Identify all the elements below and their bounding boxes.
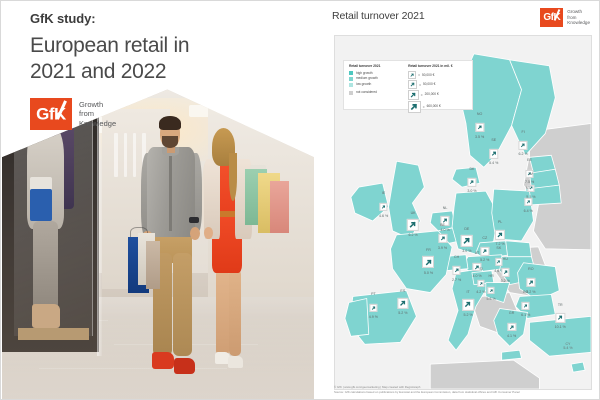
map-marker-pl[interactable]: PL7.2 %	[495, 221, 505, 247]
growth-percent-label: 3.9 %	[438, 247, 447, 251]
legend-size-value: 50,000 €	[422, 74, 434, 77]
legend-swatch-low-growth	[349, 83, 353, 87]
arrow-up-right-icon	[482, 249, 487, 254]
country-code-label: SE	[489, 139, 498, 143]
arrow-up-right-icon	[509, 325, 514, 330]
growth-arrow-icon	[475, 123, 484, 132]
country-code-label: TR	[555, 304, 566, 308]
country-code-label: DK	[467, 168, 476, 172]
growth-arrow-icon	[422, 256, 434, 268]
growth-percent-label: 6.1 %	[521, 314, 530, 318]
growth-arrow-icon	[380, 203, 388, 211]
country-code-label: EE	[525, 159, 534, 163]
legend-size-item: = 50,000 €	[408, 71, 467, 79]
country-code-label: HR	[487, 275, 496, 279]
country-code-label: SK	[494, 247, 503, 251]
country-code-label: BE	[438, 224, 447, 228]
legend-size-value: 50,000 €	[423, 83, 435, 86]
legend-equals: =	[419, 83, 421, 87]
photo-man-watch	[189, 217, 199, 223]
growth-percent-label: 4.9 %	[369, 316, 378, 320]
country-code-label: DE	[461, 228, 474, 232]
country-code-label: ES	[397, 289, 408, 293]
growth-arrow-icon	[481, 247, 489, 255]
map-marker-fr[interactable]: FR5.0 %	[422, 249, 434, 275]
map-marker-pt[interactable]: PT4.9 %	[369, 293, 378, 319]
country-code-label: NL	[440, 206, 449, 210]
arrow-up-right-icon	[521, 143, 526, 148]
country-code-label: RO	[526, 268, 535, 272]
photo-woman-leg-left	[216, 269, 229, 357]
europe-map[interactable]: Retail turnover 2021 high growth medium …	[334, 35, 592, 390]
map-marker-si[interactable]: SI4.2 %	[476, 268, 485, 294]
map-marker-dk[interactable]: DK3.0 %	[467, 168, 476, 194]
gfk-logo-mark: GfK	[540, 8, 563, 27]
arrow-up-right-icon	[479, 282, 483, 286]
country-code-label: FI	[519, 131, 528, 135]
photo-alt-text: Couple walking with shopping bags in a s…	[2, 2, 3, 3]
legend-size-value: 200,000 €	[425, 93, 439, 96]
headline-line-2: 2021 and 2022	[30, 59, 260, 85]
growth-arrow-icon	[524, 198, 532, 206]
photo-man-shirt-placket	[169, 151, 172, 231]
legend-right-heading: Retail turnover 2021 in mil. €	[408, 65, 467, 68]
photo-woman-hand-left	[204, 227, 213, 239]
legend-swatch-medium-growth	[349, 77, 353, 81]
map-marker-tr[interactable]: TR10.1 %	[555, 304, 566, 330]
legend-equals: =	[421, 93, 423, 97]
growth-arrow-icon	[462, 299, 474, 311]
growth-percent-label: 5.2 %	[462, 314, 474, 318]
legend-equals: =	[423, 105, 425, 109]
growth-arrow-icon	[556, 313, 565, 322]
growth-arrow-icon	[407, 219, 419, 231]
map-marker-it[interactable]: IT5.2 %	[462, 291, 474, 317]
map-marker-hr[interactable]: HR5.5 %	[487, 275, 496, 301]
country-code-label: PL	[495, 221, 505, 225]
map-slide: Retail turnover 2021 GfK Growth from Kno…	[326, 2, 600, 400]
country-code-label: LT	[524, 187, 533, 191]
growth-percent-label: 5.2 %	[501, 280, 510, 284]
country-code-label: SI	[476, 268, 485, 272]
map-marker-fi[interactable]: FI6.2 %	[519, 131, 528, 157]
photo-mannequin-legs	[33, 221, 58, 317]
map-marker-uk[interactable]: UK6.2 %	[407, 212, 419, 238]
country-code-label: CZ	[480, 236, 489, 240]
arrow-up-right-icon	[410, 92, 416, 98]
country-code-label: GR	[507, 312, 516, 316]
photo-man-hair	[159, 116, 181, 130]
arrow-up-right-icon	[400, 300, 407, 307]
growth-arrow-icon	[495, 230, 505, 240]
photo-man-shoe-left	[152, 352, 174, 369]
arrow-up-right-icon	[477, 125, 482, 130]
growth-arrow-icon	[438, 234, 447, 243]
country-code-label: IT	[462, 291, 474, 295]
growth-percent-label: 5.4 %	[563, 347, 572, 351]
photo-woman-leg-right	[229, 269, 241, 357]
legend-size-item: = 600,000 €	[408, 101, 467, 114]
country-code-label: IE	[379, 192, 388, 196]
map-marker-de[interactable]: DE3.0 %	[461, 228, 474, 254]
growth-arrow-icon	[522, 302, 530, 310]
legend-label: low growth	[356, 83, 371, 86]
growth-arrow-icon	[489, 149, 498, 158]
arrow-up-right-icon	[425, 259, 432, 266]
growth-arrow-icon	[408, 90, 419, 101]
legend-item: high growth	[349, 71, 405, 75]
growth-arrow-icon	[519, 141, 528, 150]
country-code-label: BG	[521, 291, 530, 295]
map-marker-bg[interactable]: BG6.1 %	[521, 291, 530, 317]
growth-percent-label: 5.5 %	[487, 298, 496, 302]
photo-shopping-bag	[146, 241, 160, 289]
photo-store-slat	[114, 133, 117, 177]
growth-percent-label: 5.2 %	[397, 312, 408, 316]
growth-percent-label: 10.1 %	[555, 326, 566, 330]
legend-swatch-high-growth	[349, 71, 353, 75]
photo-man-leg-right	[173, 253, 192, 356]
country-code-label: CH	[452, 256, 461, 260]
arrow-up-right-icon	[410, 103, 418, 111]
photo-floor-line	[39, 368, 226, 369]
growth-percent-label: 3.5 %	[475, 136, 484, 140]
map-marker-ie[interactable]: IE4.6 %	[379, 192, 388, 218]
growth-percent-label: 3.0 %	[467, 190, 476, 194]
gfk-logo-wordmark: GfK	[30, 106, 72, 123]
legend-item: low growth	[349, 83, 405, 87]
map-source-note: © GfK | www.gfk.com/geomarketing | Map c…	[334, 385, 592, 394]
legend-label: not considered	[356, 91, 377, 94]
photo-man-hand-right	[190, 227, 200, 240]
legend-equals: =	[418, 73, 420, 77]
legend-swatch-not-considered	[349, 91, 353, 95]
growth-arrow-icon	[408, 101, 421, 114]
arrow-up-right-icon	[470, 180, 475, 185]
legend-class-column: Retail turnover 2021 high growth medium …	[349, 65, 405, 105]
growth-arrow-icon	[461, 235, 474, 248]
country-code-label: HU	[501, 258, 510, 262]
map-legend: Retail turnover 2021 high growth medium …	[343, 60, 473, 110]
arrow-up-right-icon	[558, 315, 563, 320]
country-code-label: LV	[526, 173, 535, 177]
country-code-label: PT	[369, 293, 378, 297]
photo-display-bag	[30, 189, 52, 221]
legend-item: medium growth	[349, 77, 405, 81]
photo-man-beard	[162, 136, 178, 148]
legend-size-value: 600,000 €	[427, 105, 441, 108]
growth-arrow-icon	[526, 278, 535, 287]
arrow-up-right-icon	[489, 289, 493, 293]
photo-display-boot	[32, 304, 60, 328]
cover-title-block: GfK study: European retail in 2021 and 2…	[30, 12, 260, 85]
photo-woman-hair-strand	[229, 153, 237, 201]
growth-percent-label: 5.0 %	[422, 271, 434, 275]
arrow-up-right-icon	[410, 82, 415, 87]
growth-percent-label: 3.0 %	[461, 250, 474, 254]
growth-percent-label: 4.6 %	[379, 215, 388, 219]
growth-arrow-icon	[501, 268, 509, 276]
cover-slide: GfK study: European retail in 2021 and 2…	[2, 2, 314, 400]
growth-arrow-icon	[468, 178, 476, 186]
arrow-up-right-icon	[382, 205, 386, 209]
photo-shopping-bag	[270, 181, 289, 233]
arrow-up-right-icon	[503, 270, 508, 275]
map-marker-gr[interactable]: GR4.1 %	[507, 312, 516, 338]
legend-size-item: = 200,000 €	[408, 90, 467, 101]
cover-kicker: GfK study:	[30, 12, 260, 26]
country-code-label: FR	[422, 249, 434, 253]
arrow-up-right-icon	[497, 232, 503, 238]
map-marker-cy[interactable]: CY5.4 %	[563, 343, 572, 351]
headline-line-1: European retail in	[30, 34, 189, 57]
arrow-up-right-icon	[528, 280, 533, 285]
gfk-logo-mark: GfK	[30, 98, 72, 130]
arrow-up-right-icon	[409, 221, 417, 229]
arrow-up-right-icon	[371, 306, 375, 310]
growth-arrow-icon	[477, 280, 484, 287]
gfk-logo-claim: Growth from Knowledge	[79, 100, 116, 129]
arrow-up-right-icon	[465, 301, 472, 308]
country-code-label: UK	[407, 212, 419, 216]
legend-label: high growth	[356, 72, 372, 75]
arrow-up-right-icon	[524, 304, 528, 308]
growth-arrow-icon	[397, 298, 408, 309]
arrow-up-right-icon	[410, 73, 414, 77]
photo-display-shelf	[18, 328, 90, 340]
arrow-up-right-icon	[491, 151, 496, 156]
country-code-label: AT	[472, 252, 481, 256]
map-marker-hu[interactable]: HU5.2 %	[501, 258, 510, 284]
photo-store-slat	[124, 133, 127, 177]
growth-arrow-icon	[452, 266, 461, 275]
legend-item: not considered	[349, 91, 405, 95]
arrow-up-right-icon	[440, 236, 445, 241]
source-line: Source: GfK calculations based on public…	[334, 390, 592, 395]
country-code-label: NO	[475, 113, 484, 117]
growth-arrow-icon	[487, 287, 494, 294]
gfk-logo: GfK Growth from Knowledge	[540, 8, 590, 27]
arrow-up-right-icon	[463, 237, 471, 245]
growth-percent-label: 4.2 %	[476, 291, 485, 295]
gfk-logo-claim: Growth from Knowledge	[567, 9, 590, 27]
legend-left-heading: Retail turnover 2021	[349, 65, 405, 68]
gfk-logo-wordmark: GfK	[540, 13, 563, 23]
map-slide-title: Retail turnover 2021	[332, 10, 425, 22]
growth-arrow-icon	[408, 71, 416, 79]
growth-percent-label: 6.2 %	[407, 234, 419, 238]
growth-arrow-icon	[369, 304, 377, 312]
arrow-up-right-icon	[526, 200, 530, 204]
page-title: European retail in 2021 and 2022	[30, 33, 260, 84]
growth-percent-label: 6.2 %	[519, 153, 528, 157]
growth-arrow-icon	[408, 80, 417, 89]
growth-arrow-icon	[507, 323, 516, 332]
legend-size-column: Retail turnover 2021 in mil. € = 50,000 …	[405, 65, 467, 105]
photo-man-shoe-right	[174, 358, 196, 374]
growth-percent-label: 2.7 %	[452, 278, 461, 282]
map-marker-se[interactable]: SE5.4 %	[489, 139, 498, 165]
legend-label: medium growth	[356, 77, 378, 80]
growth-percent-label: 4.1 %	[507, 335, 516, 339]
map-marker-no[interactable]: NO3.5 %	[475, 113, 484, 139]
legend-size-item: = 50,000 €	[408, 80, 467, 89]
growth-percent-label: 5.4 %	[489, 162, 498, 166]
map-marker-es[interactable]: ES5.2 %	[397, 289, 408, 315]
map-marker-lt[interactable]: LT6.4 %	[524, 187, 533, 213]
map-marker-be[interactable]: BE3.9 %	[438, 224, 447, 250]
photo-store-slat	[133, 133, 136, 177]
slide-pair-canvas: GfK study: European retail in 2021 and 2…	[0, 0, 600, 400]
growth-percent-label: 6.4 %	[524, 210, 533, 214]
arrow-up-right-icon	[454, 268, 459, 273]
gfk-logo: GfK Growth from Knowledge	[30, 98, 116, 130]
map-marker-ch[interactable]: CH2.7 %	[452, 256, 461, 282]
photo-woman-shoe-right	[228, 356, 244, 368]
